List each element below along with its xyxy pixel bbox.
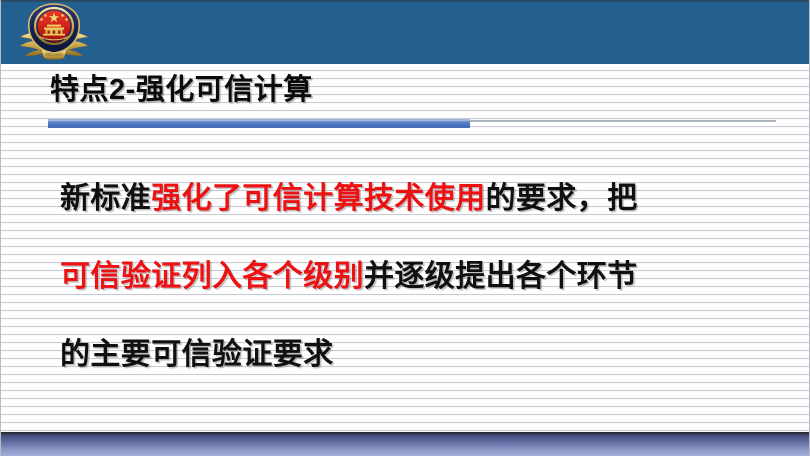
footer-bar xyxy=(1,434,809,456)
body-text-block: 新标准强化了可信计算技术使用的要求，把 可信验证列入各个级别并逐级提出各个环节 … xyxy=(60,160,760,394)
title-divider-accent xyxy=(48,119,470,128)
body-segment-1-2: 强化了可信计算技术使用 xyxy=(151,182,485,215)
police-emblem-icon xyxy=(14,1,94,63)
slide-canvas: 特点2-强化可信计算 新标准强化了可信计算技术使用的要求，把 可信验证列入各个级… xyxy=(0,0,810,456)
body-segment-1-3: 的要求，把 xyxy=(486,182,638,215)
body-segment-1-1: 新标准 xyxy=(60,182,151,215)
title-row: 特点2-强化可信计算 xyxy=(50,70,770,112)
header-banner xyxy=(1,0,809,64)
body-segment-3-1: 的主要可信验证要求 xyxy=(60,338,334,371)
page-title: 特点2-强化可信计算 xyxy=(50,70,770,110)
slide-left-border xyxy=(0,0,1,456)
body-line-3: 的主要可信验证要求 xyxy=(60,316,760,394)
body-line-1: 新标准强化了可信计算技术使用的要求，把 xyxy=(60,160,760,238)
body-line-2: 可信验证列入各个级别并逐级提出各个环节 xyxy=(60,238,760,316)
header-underline xyxy=(1,64,809,67)
body-segment-2-1: 可信验证列入各个级别 xyxy=(60,260,364,293)
body-segment-2-2: 并逐级提出各个环节 xyxy=(364,260,638,293)
